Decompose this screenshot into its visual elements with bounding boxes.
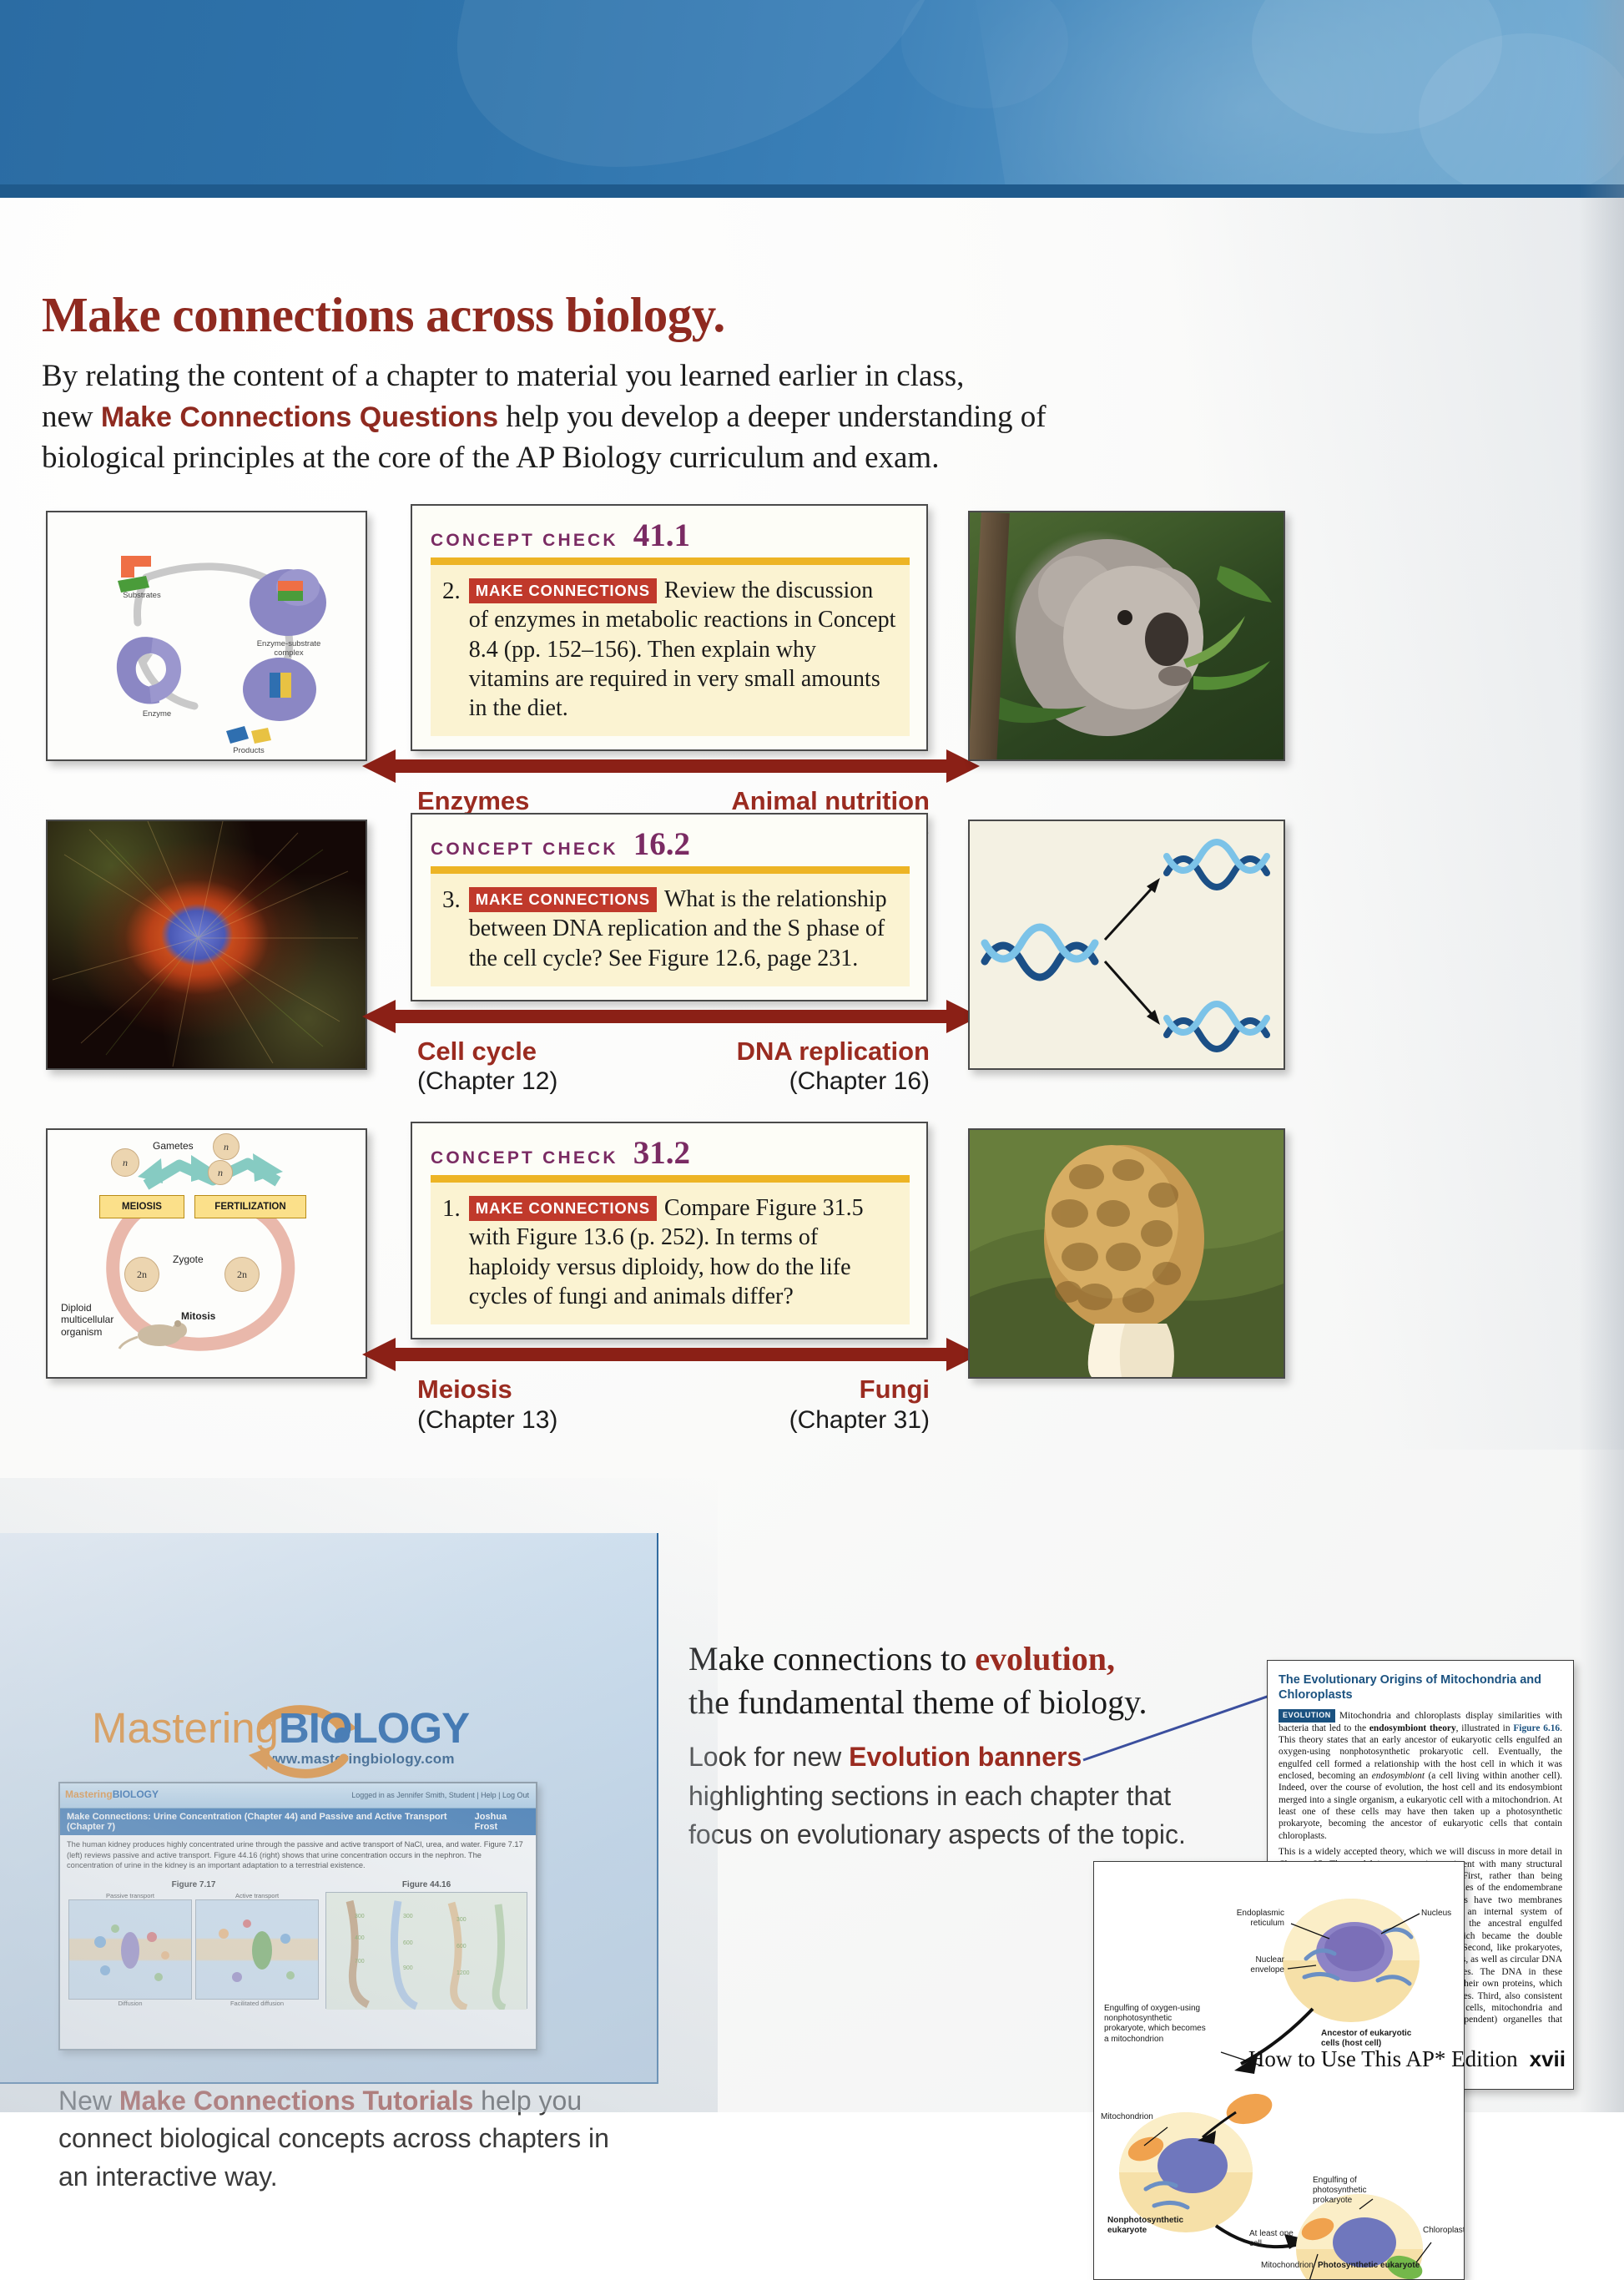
concept-check-body-2: 3. MAKE CONNECTIONSWhat is the relations…	[431, 874, 910, 986]
nephron-svg: 300400700 300600900 3006001200	[326, 1893, 527, 2010]
make-connections-badge-3: MAKE CONNECTIONS	[469, 1196, 657, 1221]
double-arrow-svg-1	[362, 748, 980, 784]
intro-line-2-post: help you develop a deeper understanding …	[498, 400, 1047, 434]
morel-photo-art	[970, 1130, 1284, 1377]
endo-label-photo-euk: Photosynthetic eukaryote	[1318, 2261, 1435, 2271]
svg-text:900: 900	[403, 1965, 413, 1971]
spindle-micrograph-art	[48, 821, 366, 1068]
question-number-1: 2.	[442, 576, 461, 723]
connection-row-1: Substrates Enzyme Enzyme-substrate compl…	[0, 486, 1624, 786]
endo-label-er: Endoplasmic reticulum	[1218, 1909, 1284, 1929]
svg-text:400: 400	[355, 1935, 365, 1941]
concept-check-card-2: CONCEPT CHECK 16.2 3. MAKE CONNECTIONSWh…	[411, 813, 928, 1001]
intro-line-1: By relating the content of a chapter to …	[42, 359, 964, 393]
screenshot-logo-b: BIOLOGY	[113, 1788, 159, 1800]
excerpt-p1-bold: endosymbiont theory	[1369, 1723, 1456, 1733]
screenshot-description: The human kidney produces highly concent…	[60, 1835, 536, 1877]
double-arrow-svg-2	[362, 998, 980, 1035]
screenshot-topbar: MasteringBIOLOGY Logged in as Jennifer S…	[60, 1783, 536, 1808]
concept-check-header-2: CONCEPT CHECK 16.2	[431, 828, 910, 860]
footer-page-number: xvii	[1530, 2046, 1566, 2071]
svg-text:300: 300	[403, 1914, 413, 1919]
screenshot-nephron-diagram: 300400700 300600900 3006001200	[325, 1892, 527, 2009]
thumbnail-enzyme-diagram: Substrates Enzyme Enzyme-substrate compl…	[46, 511, 367, 761]
endo-label-mito2: Mitochondrion	[1261, 2261, 1314, 2271]
intro-highlight: Make Connections Questions	[101, 401, 498, 433]
excerpt-p1-italic: endosymbiont	[1372, 1771, 1425, 1781]
make-connections-badge-2: MAKE CONNECTIONS	[469, 887, 657, 912]
thumbnail-morel-photo	[968, 1128, 1285, 1379]
concept-check-gold-rule-2	[431, 866, 910, 874]
question-number-3: 1.	[442, 1193, 461, 1311]
screenshot-logo: MasteringBIOLOGY	[65, 1788, 159, 1800]
concept-check-label-2: CONCEPT CHECK	[431, 840, 618, 860]
thumbnail-dna-replication	[968, 820, 1285, 1070]
intro-line-3: biological principles at the core of the…	[42, 441, 939, 475]
connection-row-2: CONCEPT CHECK 16.2 3. MAKE CONNECTIONSWh…	[0, 794, 1624, 1095]
concept-check-header-1: CONCEPT CHECK 41.1	[431, 519, 910, 552]
left-label-3: Meiosis (Chapter 13)	[417, 1375, 557, 1435]
right-topic-3: Fungi	[789, 1375, 930, 1405]
left-label-2: Cell cycle (Chapter 12)	[417, 1037, 557, 1097]
screenshot-logo-a: Mastering	[65, 1788, 113, 1800]
excerpt-p1-c: , illustrated in	[1456, 1723, 1514, 1733]
morel-svg	[970, 1130, 1284, 1377]
right-label-2: DNA replication (Chapter 16)	[737, 1037, 930, 1097]
endo-label-engulf-photo: Engulfing of photosynthetic prokaryote	[1313, 2176, 1374, 2207]
screenshot-author: Joshua Frost	[475, 1812, 529, 1832]
membrane-svg-b	[196, 1900, 318, 2000]
koala-photo-art	[970, 512, 1284, 759]
concept-check-card-1: CONCEPT CHECK 41.1 2. MAKE CONNECTIONSRe…	[411, 504, 928, 751]
screenshot-fig-right-title: Figure 44.16	[325, 1880, 527, 1889]
right-chapter-3: (Chapter 31)	[789, 1405, 930, 1435]
footer-text: How to Use This AP* Edition	[1248, 2046, 1518, 2071]
koala-svg	[970, 512, 1284, 759]
svg-text:600: 600	[403, 1940, 413, 1946]
question-number-2: 3.	[442, 885, 461, 973]
headline-block: Make connections across biology. By rela…	[42, 290, 1294, 478]
excerpt-heading: The Evolutionary Origins of Mitochondria…	[1279, 1672, 1562, 1702]
page-title: Make connections across biology.	[42, 290, 1294, 341]
endo-label-atleast: At least one cell	[1249, 2229, 1296, 2249]
svg-text:300: 300	[456, 1917, 467, 1923]
concept-check-card-1-wrapper: CONCEPT CHECK 41.1 2. MAKE CONNECTIONSRe…	[411, 504, 928, 786]
page-body: Make connections across biology. By rela…	[0, 198, 1624, 2112]
mastering-caption-highlight: Make Connections Tutorials	[119, 2086, 473, 2116]
enzyme-cycle-svg	[48, 512, 366, 759]
screenshot-fig-left-title: Figure 7.17	[68, 1880, 319, 1889]
svg-text:300: 300	[355, 1914, 365, 1919]
evolution-heading-pre: Make connections to	[688, 1640, 975, 1677]
question-text-1: MAKE CONNECTIONSReview the discussion of…	[469, 576, 898, 723]
svg-text:1200: 1200	[456, 1970, 470, 1976]
screenshot-login-status: Logged in as Jennifer Smith, Student | H…	[351, 1791, 529, 1799]
concept-check-number-2: 16.2	[633, 828, 690, 860]
concept-check-label-3: CONCEPT CHECK	[431, 1148, 618, 1168]
left-chapter-2: (Chapter 12)	[417, 1067, 557, 1096]
double-arrow-2	[411, 998, 928, 1035]
banner-swoop-shape	[429, 0, 972, 167]
banner-bottom-edge	[0, 184, 1624, 198]
screenshot-fig-left-sub-a: Passive transport	[68, 1892, 192, 1899]
enzyme-label-substrates: Substrates	[113, 591, 171, 600]
concept-check-card-3-wrapper: CONCEPT CHECK 31.2 1. MAKE CONNECTIONSCo…	[411, 1122, 928, 1375]
mastering-logo-word-1: Mastering	[92, 1704, 279, 1752]
enzyme-cycle-art: Substrates Enzyme Enzyme-substrate compl…	[48, 512, 366, 759]
double-arrow-1	[411, 748, 928, 784]
left-topic-3: Meiosis	[417, 1375, 557, 1405]
mastering-biology-screenshot: MasteringBIOLOGY Logged in as Jennifer S…	[58, 1782, 537, 2050]
thumbnail-life-cycle-diagram: n n n Gametes MEIOSIS FERTILIZATION 2n 2…	[46, 1128, 367, 1379]
svg-text:600: 600	[456, 1944, 467, 1950]
screenshot-figure-right: Figure 44.16 300400700 300600900 3006001…	[325, 1880, 527, 2009]
endo-label-engulf-mito: Engulfing of oxygen-using nonphotosynthe…	[1104, 2004, 1213, 2045]
endo-label-chloroplast: Chloroplast	[1423, 2226, 1465, 2236]
screenshot-tutorial-titlebar: Make Connections: Urine Concentration (C…	[60, 1808, 536, 1835]
screenshot-tutorial-title: Make Connections: Urine Concentration (C…	[67, 1812, 475, 1832]
excerpt-p1-f: (a cell living within another cell). Ind…	[1279, 1771, 1562, 1841]
double-arrow-3	[411, 1336, 928, 1373]
endo-label-mitochondrion: Mitochondrion	[1101, 2112, 1153, 2122]
intro-line-2-pre: new	[42, 400, 101, 434]
enzyme-label-enzyme: Enzyme	[128, 709, 186, 719]
mastering-caption-pre: New	[58, 2086, 119, 2116]
left-topic-2: Cell cycle	[417, 1037, 557, 1067]
right-chapter-2: (Chapter 16)	[737, 1067, 930, 1096]
screenshot-fig-left-sub-b: Active transport	[195, 1892, 319, 1899]
enzyme-label-products: Products	[219, 746, 278, 755]
screenshot-figure-left: Figure 7.17 Passive transport Di	[68, 1880, 319, 2009]
membrane-svg-a	[69, 1900, 191, 2000]
mastering-biology-logo: MasteringBIOLOGY www.masteringbiology.co…	[92, 1707, 526, 1768]
left-chapter-3: (Chapter 13)	[417, 1405, 557, 1435]
screenshot-figure-row: Figure 7.17 Passive transport Di	[60, 1877, 536, 2009]
mastering-caption: New Make Connections Tutorials help you …	[58, 2082, 609, 2196]
concept-check-card-3: CONCEPT CHECK 31.2 1. MAKE CONNECTIONSCo…	[411, 1122, 928, 1339]
double-arrow-svg-3	[362, 1336, 980, 1373]
top-banner	[0, 0, 1624, 198]
concept-check-card-2-wrapper: CONCEPT CHECK 16.2 3. MAKE CONNECTIONSWh…	[411, 813, 928, 1037]
banner-blob-2	[1419, 33, 1624, 198]
dna-replication-art	[970, 821, 1284, 1068]
screenshot-membrane-diagram-a	[68, 1899, 192, 2000]
dna-replication-svg	[970, 821, 1284, 1068]
svg-text:700: 700	[355, 1959, 365, 1965]
concept-check-gold-rule-1	[431, 557, 910, 565]
excerpt-figure-reference: Figure 6.16	[1513, 1723, 1560, 1733]
evolution-body-post: highlighting sections in each chapter th…	[688, 1781, 1186, 1850]
endo-label-nucleus: Nucleus	[1421, 1909, 1451, 1919]
page-footer: How to Use This AP* Editionxvii	[1248, 2046, 1566, 2072]
evolution-body-highlight: Evolution banners	[849, 1742, 1082, 1772]
intro-paragraph: By relating the content of a chapter to …	[42, 356, 1227, 478]
evolution-body-pre: Look for new	[688, 1742, 849, 1772]
endo-label-nonphoto: Nonphotosynthetic eukaryote	[1107, 2216, 1189, 2236]
right-label-3: Fungi (Chapter 31)	[789, 1375, 930, 1435]
right-topic-2: DNA replication	[737, 1037, 930, 1067]
concept-check-body-3: 1. MAKE CONNECTIONSCompare Figure 31.5 w…	[431, 1183, 910, 1324]
endo-label-nuclear-envelope: Nuclear envelope	[1221, 1955, 1284, 1975]
concept-check-number-3: 31.2	[633, 1137, 690, 1169]
connection-row-3: n n n Gametes MEIOSIS FERTILIZATION 2n 2…	[0, 1103, 1624, 1404]
concept-check-label-1: CONCEPT CHECK	[431, 531, 618, 551]
question-text-2: MAKE CONNECTIONSWhat is the relationship…	[469, 885, 898, 973]
enzyme-label-complex: Enzyme-substrate complex	[245, 639, 333, 658]
screenshot-membrane-diagram-b	[195, 1899, 319, 2000]
concept-check-body-1: 2. MAKE CONNECTIONSReview the discussion…	[431, 565, 910, 736]
concept-check-number-1: 41.1	[633, 519, 690, 552]
spindle-svg	[48, 821, 366, 1068]
excerpt-paragraph-1: EVOLUTIONMitochondria and chloroplasts d…	[1279, 1709, 1562, 1842]
question-text-3: MAKE CONNECTIONSCompare Figure 31.5 with…	[469, 1193, 898, 1311]
evolution-badge: EVOLUTION	[1279, 1709, 1335, 1722]
mastering-logo-word-2: BIOLOGY	[279, 1704, 469, 1752]
concept-check-gold-rule-3	[431, 1175, 910, 1183]
thumbnail-spindle-micrograph	[46, 820, 367, 1070]
concept-check-header-3: CONCEPT CHECK 31.2	[431, 1137, 910, 1169]
make-connections-badge-1: MAKE CONNECTIONS	[469, 578, 657, 603]
thumbnail-koala-photo	[968, 511, 1285, 761]
mouse-icon	[48, 1130, 366, 1377]
life-cycle-art: n n n Gametes MEIOSIS FERTILIZATION 2n 2…	[48, 1130, 366, 1377]
